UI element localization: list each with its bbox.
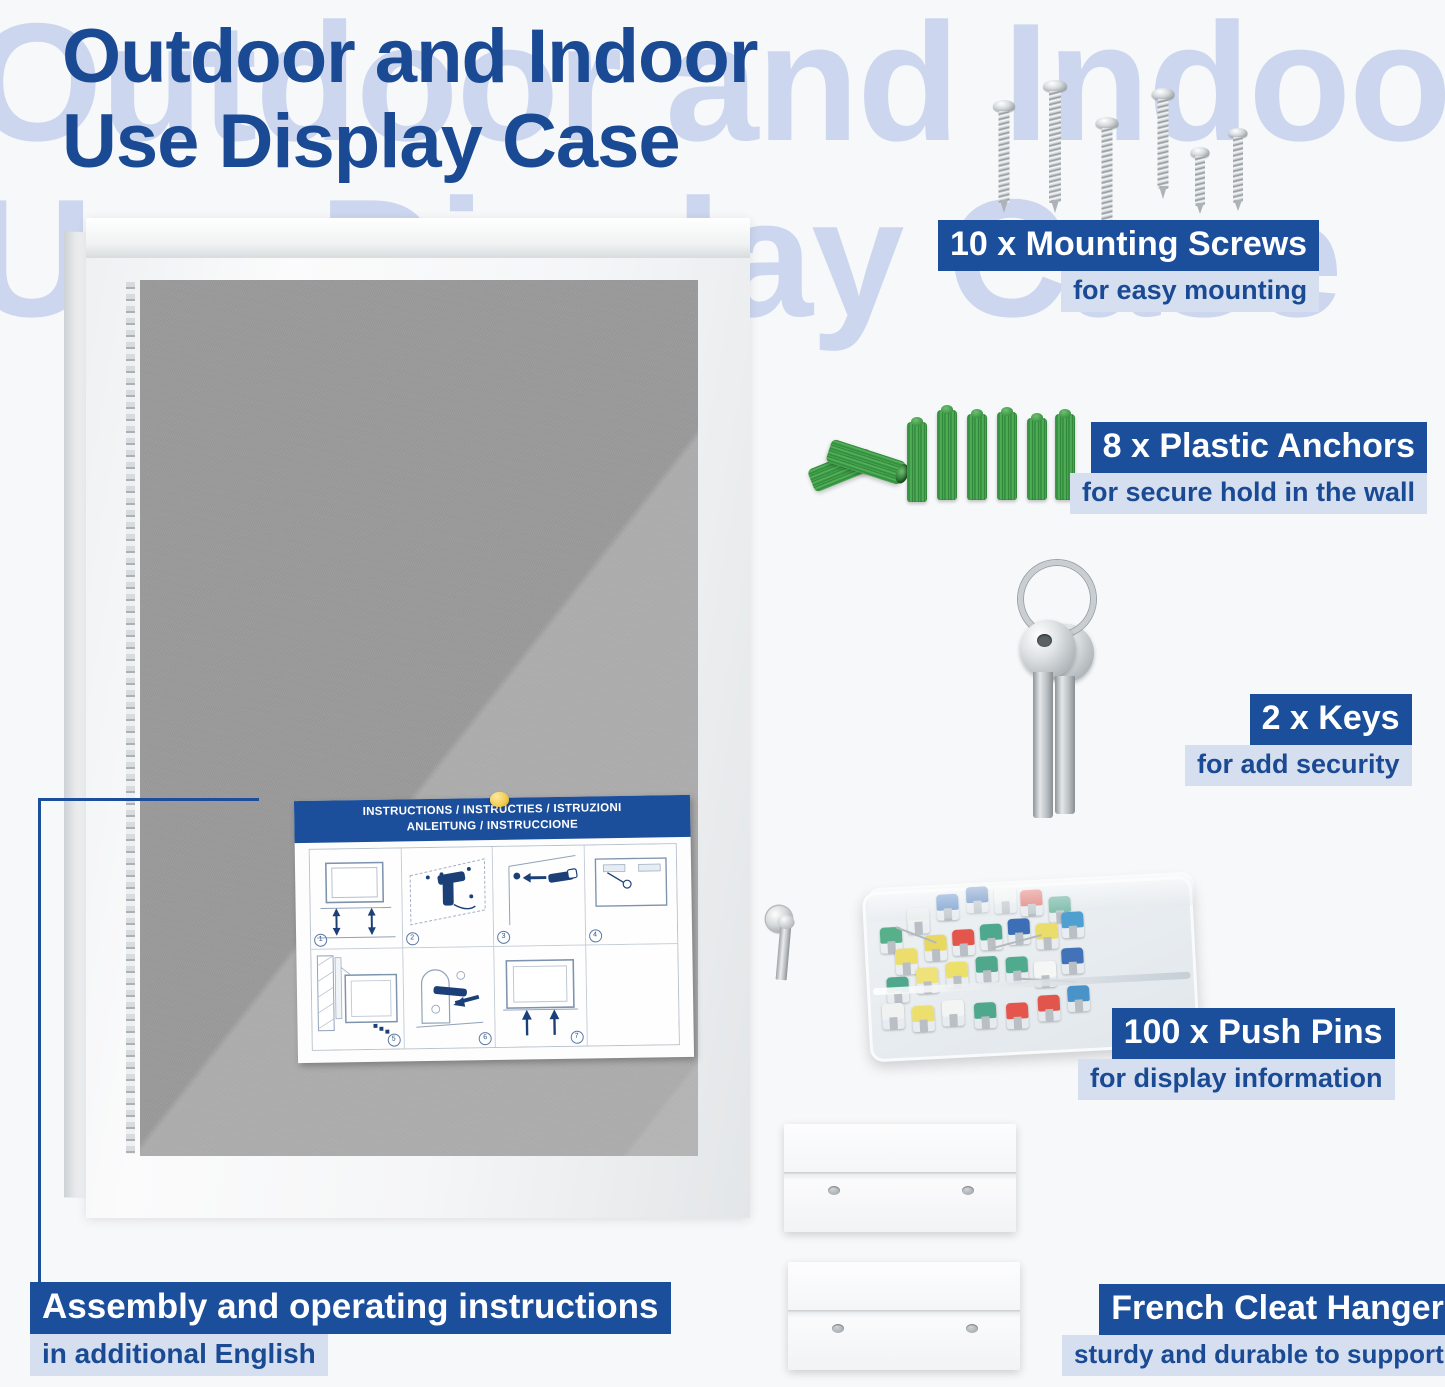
callout-title: 10 x Mounting Screws — [938, 220, 1319, 271]
callout-subtitle: sturdy and durable to support — [1062, 1335, 1445, 1376]
screw-tip — [1234, 200, 1242, 211]
push-pin-icon — [1006, 1002, 1029, 1029]
anchor-icon — [967, 414, 987, 500]
screw-icon — [1228, 128, 1247, 214]
cleat-screw-hole — [832, 1324, 844, 1333]
cleat-screw-hole — [962, 1186, 974, 1195]
screw-shaft — [1233, 137, 1243, 203]
screw-shaft — [1101, 128, 1112, 224]
key-bow-icon — [1020, 620, 1076, 678]
mounting-screws-image — [985, 72, 1275, 232]
instruction-panel-number: 4 — [589, 929, 602, 942]
screw-shaft — [1157, 99, 1168, 189]
key-blade-icon — [1033, 672, 1053, 818]
french-cleat-icon — [784, 1124, 1016, 1232]
screw-icon — [1095, 117, 1118, 235]
push-pin-icon — [490, 792, 509, 807]
anchor-icon — [997, 412, 1017, 500]
push-pin-icon — [975, 956, 998, 983]
screw-shaft — [1049, 91, 1061, 203]
page-title-line-1: Outdoor and Indoor — [62, 14, 757, 99]
instruction-panel: 5 — [311, 948, 404, 1049]
screw-shaft — [999, 111, 1010, 203]
anchor-icon — [937, 410, 957, 500]
callout-french-cleat-hanger: French Cleat Hanger sturdy and durable t… — [1062, 1284, 1445, 1376]
push-pin-icon — [895, 948, 918, 975]
page-title: Outdoor and Indoor Use Display Case — [62, 14, 757, 184]
instruction-panel: 6 — [403, 947, 496, 1048]
callout-keys: 2 x Keys for add security — [1185, 694, 1412, 786]
callout-title: 8 x Plastic Anchors — [1091, 422, 1427, 473]
screw-tip — [1196, 203, 1204, 214]
callout-subtitle: in additional English — [30, 1334, 328, 1376]
callout-mounting-screws: 10 x Mounting Screws for easy mounting — [938, 220, 1319, 312]
instruction-panel-number: 6 — [479, 1032, 492, 1045]
instruction-panel: 4 — [584, 844, 677, 945]
cleat-screw-hole — [966, 1324, 978, 1333]
callout-title: 100 x Push Pins — [1112, 1008, 1395, 1059]
callout-subtitle: for easy mounting — [1061, 271, 1319, 312]
case-top-bevel — [86, 218, 750, 258]
plastic-anchors-image — [805, 396, 1070, 512]
anchor-icon — [907, 422, 927, 502]
screw-tip — [1051, 200, 1059, 213]
push-pin-icon — [1061, 911, 1084, 938]
cleat-groove — [788, 1310, 1020, 1313]
screw-icon — [1043, 80, 1067, 222]
french-cleat-icon — [788, 1262, 1020, 1370]
callout-plastic-anchors: 8 x Plastic Anchors for secure hold in t… — [1070, 422, 1427, 514]
screw-icon — [993, 100, 1015, 218]
push-pin-icon — [942, 1000, 965, 1027]
callout-connector-line — [38, 798, 259, 1286]
instruction-panel-number: 2 — [406, 932, 419, 945]
push-pin-icon — [882, 1003, 905, 1030]
screw-icon — [1151, 88, 1174, 203]
screw-tip — [1000, 200, 1008, 213]
keys-image — [1000, 560, 1120, 830]
push-pin-icon — [1061, 947, 1084, 974]
callout-subtitle: for add security — [1185, 745, 1412, 786]
instruction-panel-grid: 1 2 — [309, 843, 680, 1051]
key-blade-icon — [1055, 676, 1075, 814]
page-title-line-2: Use Display Case — [62, 99, 757, 184]
callout-title: French Cleat Hanger — [1099, 1284, 1445, 1335]
screw-tip — [1159, 186, 1167, 199]
cleat-screw-hole — [828, 1186, 840, 1195]
push-pin-icon — [952, 929, 975, 956]
callout-assembly-instructions: Assembly and operating instructions in a… — [30, 1282, 671, 1376]
push-pin-icon — [912, 1005, 935, 1032]
instruction-panel-number: 7 — [570, 1031, 583, 1044]
callout-subtitle: for display information — [1078, 1059, 1395, 1100]
callout-title: Assembly and operating instructions — [30, 1282, 671, 1334]
screw-shaft — [1195, 156, 1205, 206]
instruction-sheet: INSTRUCTIONS / INSTRUCTIES / ISTRUZIONI … — [294, 795, 694, 1063]
anchor-icon — [1027, 418, 1047, 500]
instruction-panel: 2 — [401, 847, 494, 948]
instruction-panel-number: 5 — [387, 1033, 400, 1046]
push-pin-icon — [974, 1002, 997, 1029]
instruction-panel: 7 — [494, 946, 587, 1047]
push-pin-icon — [1037, 995, 1060, 1022]
cleat-groove — [784, 1172, 1016, 1175]
screw-icon — [1190, 147, 1209, 215]
inserted-key-icon[interactable] — [776, 924, 792, 981]
callout-subtitle: for secure hold in the wall — [1070, 473, 1427, 514]
callout-title: 2 x Keys — [1250, 694, 1412, 745]
instruction-panel: 1 — [310, 848, 403, 949]
callout-push-pins: 100 x Push Pins for display information — [1078, 1008, 1395, 1100]
instruction-panel: 3 — [493, 846, 586, 947]
infographic-canvas: Outdoor and Indoor Use Display Case Outd… — [0, 0, 1445, 1387]
instruction-panel-empty — [586, 944, 679, 1045]
